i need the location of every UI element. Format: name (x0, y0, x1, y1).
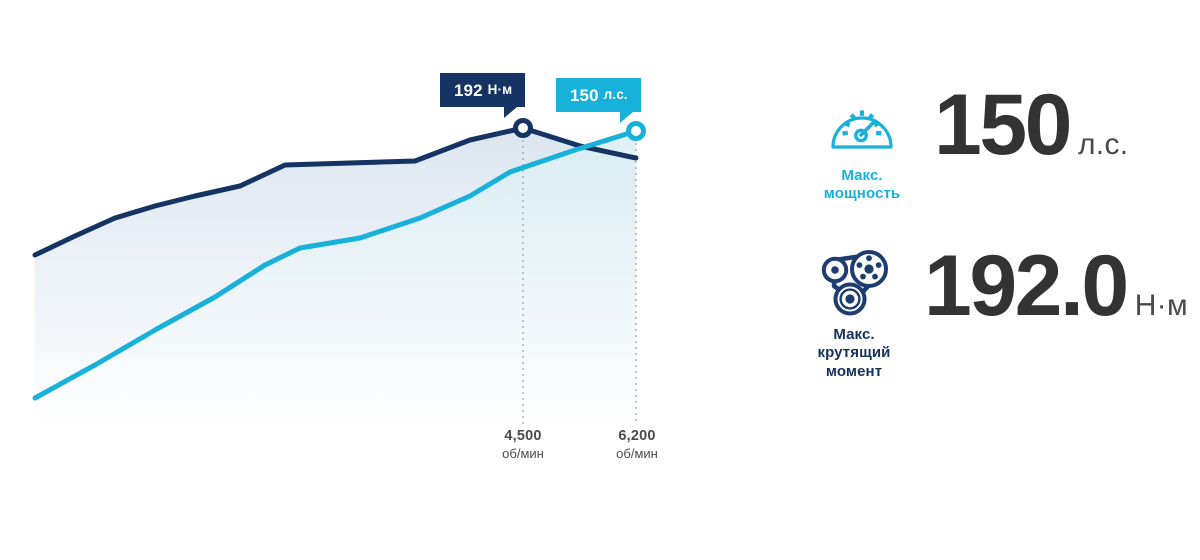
power-badge-value: 150 (570, 87, 599, 104)
badge-tail (504, 107, 517, 118)
tick-value: 4,500 (463, 428, 583, 446)
torque-badge-unit: Н·м (488, 83, 513, 97)
stat-unit: Н·м (1135, 289, 1188, 323)
performance-chart: 192 Н·м 150 л.с. 4,500 об/мин 6,200 об/м… (0, 0, 760, 560)
tick-value: 6,200 (577, 428, 697, 446)
stat-unit: л.с. (1078, 128, 1128, 162)
stats-panel: Макс. мощность 150 л.с. (760, 0, 1200, 560)
stat-value-wrap: 150 л.с. (934, 86, 1128, 165)
stat-icon-column: Макс. крутящий момент (790, 243, 918, 381)
stat-caption: Макс. крутящий момент (818, 326, 891, 381)
stat-caption: Макс. мощность (824, 167, 900, 204)
x-axis-tick-4500: 4,500 об/мин (463, 428, 583, 462)
x-axis-tick-6200: 6,200 об/мин (577, 428, 697, 462)
torque-badge-value: 192 (454, 82, 483, 99)
stat-max-power: Макс. мощность 150 л.с. (798, 90, 1128, 204)
chart-canvas (0, 0, 760, 560)
power-badge-unit: л.с. (604, 88, 628, 102)
stat-icon-column: Макс. мощность (798, 90, 926, 204)
stat-value: 192.0 (924, 247, 1127, 326)
speedometer-icon (826, 90, 898, 160)
peak-marker (516, 121, 531, 136)
tick-unit: об/мин (577, 446, 697, 462)
peak-marker (629, 124, 644, 139)
stat-value: 150 (934, 86, 1070, 165)
badge-tail (620, 112, 633, 123)
torque-peak-badge: 192 Н·м (440, 73, 525, 107)
stat-value-wrap: 192.0 Н·м (924, 247, 1188, 326)
stat-max-torque: Макс. крутящий момент 192.0 Н·м (790, 243, 1188, 381)
tick-unit: об/мин (463, 446, 583, 462)
pulley-belt-icon (814, 243, 894, 319)
power-peak-badge: 150 л.с. (556, 78, 641, 112)
